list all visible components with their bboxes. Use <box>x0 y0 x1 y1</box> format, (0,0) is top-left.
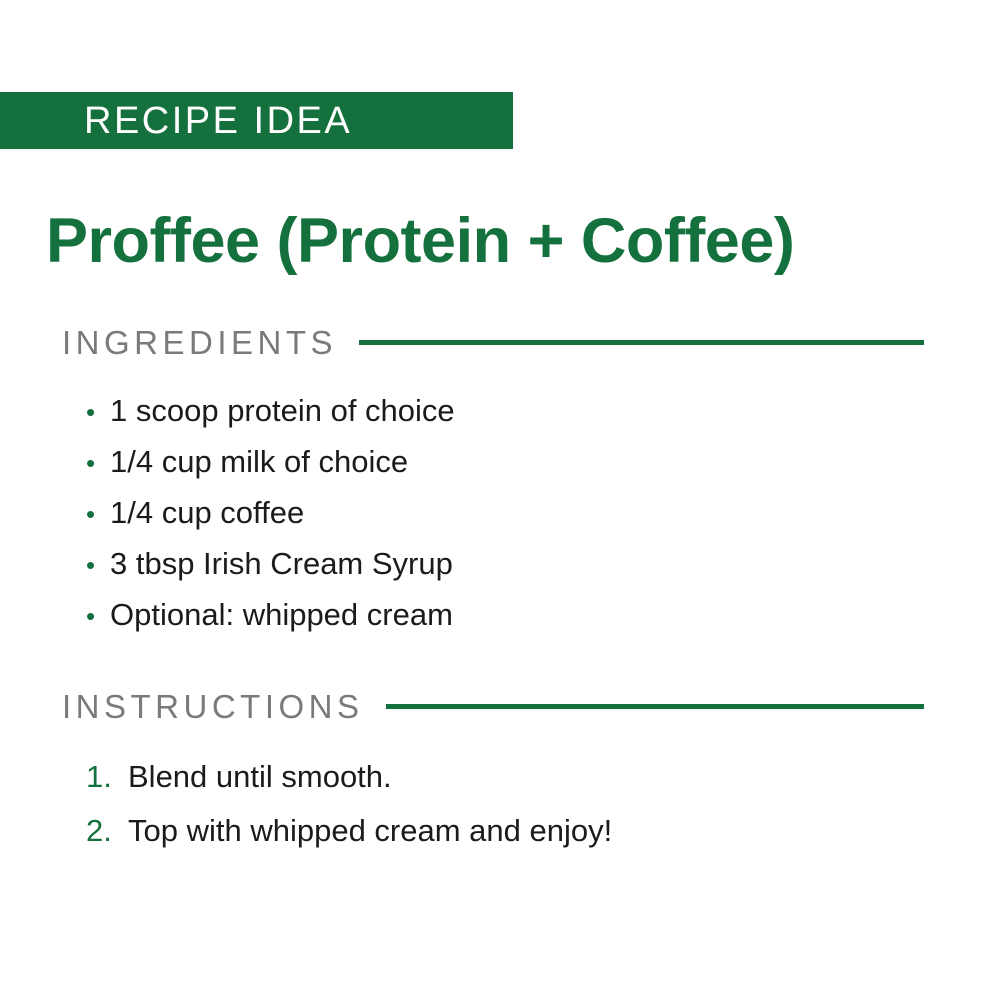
bullet-icon: • <box>86 540 110 591</box>
list-item: 1. Blend until smooth. <box>86 750 612 804</box>
instructions-list: 1. Blend until smooth. 2. Top with whipp… <box>86 750 612 858</box>
step-text: Blend until smooth. <box>128 750 392 804</box>
list-item: • 1/4 cup coffee <box>86 487 455 538</box>
bullet-icon: • <box>86 489 110 540</box>
instructions-heading-rule <box>386 704 925 709</box>
ingredients-heading-rule <box>359 340 924 345</box>
list-item: 2. Top with whipped cream and enjoy! <box>86 804 612 858</box>
ingredients-section-header: INGREDIENTS <box>62 326 924 359</box>
recipe-idea-banner: RECIPE IDEA <box>0 92 513 149</box>
ingredients-heading-label: INGREDIENTS <box>62 326 337 359</box>
ingredient-text: 1 scoop protein of choice <box>110 385 455 436</box>
bullet-icon: • <box>86 387 110 438</box>
ingredient-text: Optional: whipped cream <box>110 589 453 640</box>
bullet-icon: • <box>86 591 110 642</box>
list-item: • Optional: whipped cream <box>86 589 455 640</box>
recipe-card: RECIPE IDEA Proffee (Protein + Coffee) I… <box>0 0 1000 1000</box>
ingredient-text: 1/4 cup coffee <box>110 487 304 538</box>
step-text: Top with whipped cream and enjoy! <box>128 804 612 858</box>
list-item: • 3 tbsp Irish Cream Syrup <box>86 538 455 589</box>
list-item: • 1 scoop protein of choice <box>86 385 455 436</box>
recipe-title: Proffee (Protein + Coffee) <box>46 206 976 277</box>
bullet-icon: • <box>86 438 110 489</box>
step-number: 2. <box>86 804 128 858</box>
banner-label: RECIPE IDEA <box>0 102 352 140</box>
ingredient-text: 1/4 cup milk of choice <box>110 436 408 487</box>
instructions-section-header: INSTRUCTIONS <box>62 690 924 723</box>
instructions-heading-label: INSTRUCTIONS <box>62 690 364 723</box>
list-item: • 1/4 cup milk of choice <box>86 436 455 487</box>
ingredients-list: • 1 scoop protein of choice • 1/4 cup mi… <box>86 385 455 640</box>
step-number: 1. <box>86 750 128 804</box>
ingredient-text: 3 tbsp Irish Cream Syrup <box>110 538 453 589</box>
